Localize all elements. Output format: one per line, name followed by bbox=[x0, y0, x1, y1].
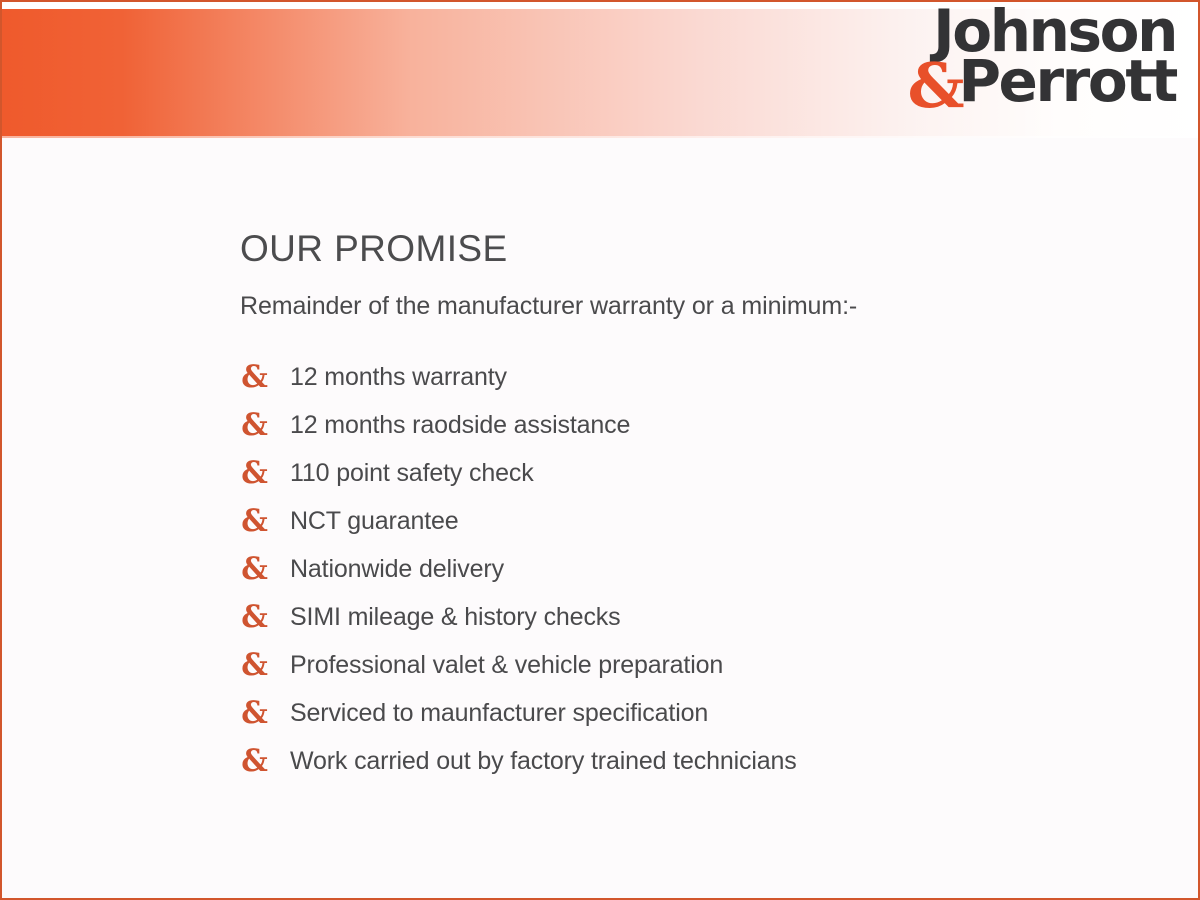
logo-line-perrott: &Perrott bbox=[908, 55, 1176, 107]
list-item: & Work carried out by factory trained te… bbox=[240, 737, 1140, 785]
ampersand-bullet-icon: & bbox=[241, 362, 289, 393]
list-item: & 12 months raodside assistance bbox=[240, 401, 1140, 449]
list-item: & Serviced to maunfacturer specification bbox=[240, 689, 1140, 737]
ampersand-bullet-icon: & bbox=[241, 554, 289, 585]
ampersand-bullet-icon: & bbox=[241, 650, 289, 681]
ampersand-bullet-icon: & bbox=[241, 458, 289, 489]
list-item-label: Nationwide delivery bbox=[290, 555, 504, 584]
list-item: & 110 point safety check bbox=[240, 449, 1140, 497]
list-item: & NCT guarantee bbox=[240, 497, 1140, 545]
list-item: & Professional valet & vehicle preparati… bbox=[240, 641, 1140, 689]
page-title: OUR PROMISE bbox=[240, 228, 1140, 270]
list-item-label: Serviced to maunfacturer specification bbox=[290, 699, 708, 728]
logo-text-perrott: Perrott bbox=[958, 47, 1176, 115]
ampersand-icon: & bbox=[908, 61, 962, 111]
ampersand-bullet-icon: & bbox=[241, 602, 289, 633]
list-item: & 12 months warranty bbox=[240, 353, 1140, 401]
list-item-label: Professional valet & vehicle preparation bbox=[290, 651, 723, 680]
subtitle: Remainder of the manufacturer warranty o… bbox=[240, 292, 1140, 321]
brand-logo: Johnson &Perrott bbox=[908, 6, 1176, 107]
ampersand-bullet-icon: & bbox=[241, 746, 289, 777]
list-item-label: 12 months warranty bbox=[290, 363, 507, 392]
promise-list: & 12 months warranty & 12 months raodsid… bbox=[240, 353, 1140, 785]
content-area: OUR PROMISE Remainder of the manufacture… bbox=[240, 228, 1140, 785]
list-item-label: 12 months raodside assistance bbox=[290, 411, 630, 440]
list-item-label: SIMI mileage & history checks bbox=[290, 603, 621, 632]
list-item-label: NCT guarantee bbox=[290, 507, 459, 536]
list-item-label: 110 point safety check bbox=[290, 459, 534, 488]
list-item-label: Work carried out by factory trained tech… bbox=[290, 747, 797, 776]
list-item: & Nationwide delivery bbox=[240, 545, 1140, 593]
promise-slide: Johnson &Perrott OUR PROMISE Remainder o… bbox=[0, 0, 1200, 900]
ampersand-bullet-icon: & bbox=[241, 410, 289, 441]
ampersand-bullet-icon: & bbox=[241, 698, 289, 729]
ampersand-bullet-icon: & bbox=[241, 506, 289, 537]
list-item: & SIMI mileage & history checks bbox=[240, 593, 1140, 641]
